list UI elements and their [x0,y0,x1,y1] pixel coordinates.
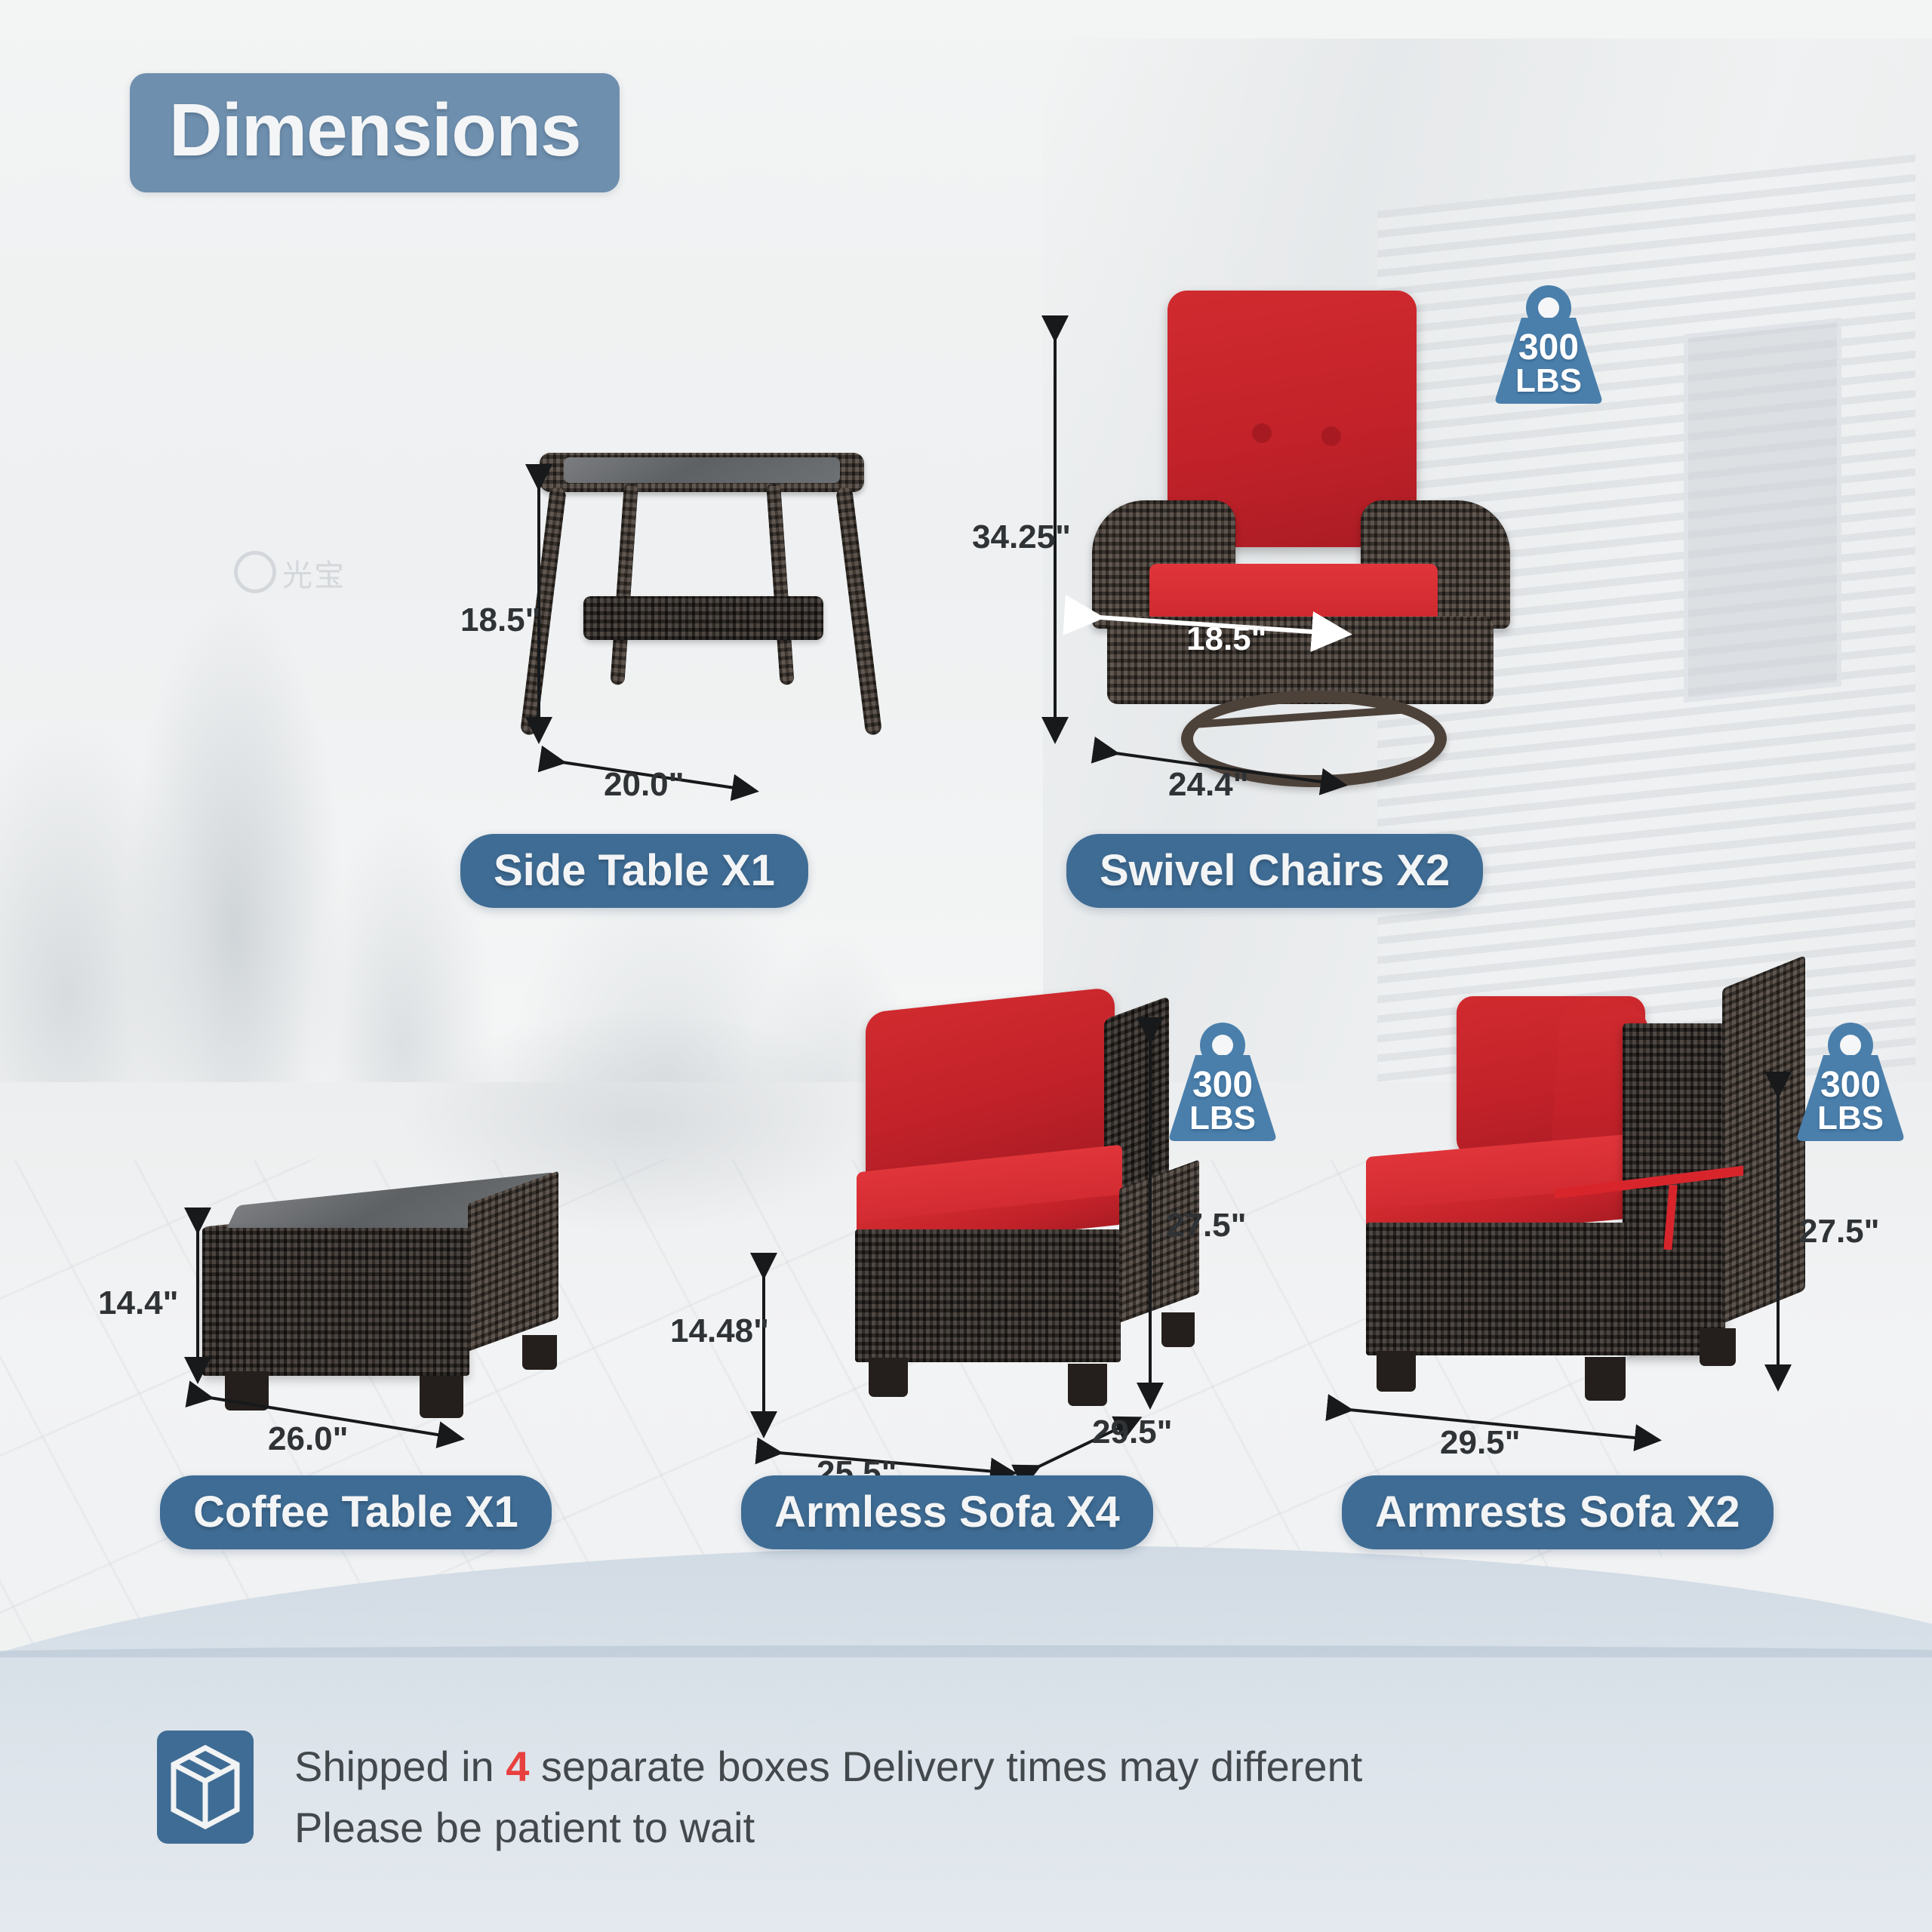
label-armrests-sofa-text: Armrests Sofa X2 [1375,1487,1740,1537]
shipping-note-line1-before: Shipped in [294,1743,506,1790]
armrests-sofa-width-label: 29.5" [1440,1426,1521,1460]
coffee-table-side-panel [468,1171,558,1352]
armrests-sofa-illustration [1366,996,1819,1434]
coffee-table-foot-front-right [420,1376,463,1418]
weight-value: 300 [1790,1067,1911,1103]
label-swivel-chairs[interactable]: Swivel Chairs X2 [1066,834,1483,908]
coffee-table-width-label: 26.0" [268,1423,349,1456]
label-coffee-table[interactable]: Coffee Table X1 [160,1475,552,1549]
armless-sofa-foot-back-right [1161,1312,1195,1347]
watermark-text: 光宝 [282,559,346,592]
coffee-table-front-panel [202,1228,469,1376]
armrests-sofa-foot-front-left [1377,1351,1416,1392]
label-armless-sofa[interactable]: Armless Sofa X4 [741,1475,1153,1549]
side-table-leg-back-left [610,482,638,685]
bottom-band-edge [0,1645,1932,1657]
side-table-lower-shelf [583,596,823,640]
side-table-width-label: 20.0" [604,768,685,801]
armless-sofa-back-height-label: 27.5" [1166,1209,1247,1242]
armless-sofa-seat-height-label: 14.48" [670,1315,769,1348]
armrests-sofa-base-front [1366,1223,1629,1355]
shipping-note-line2: Please be patient to wait [294,1797,1362,1858]
swivel-chair-height-label: 34.25" [972,521,1071,554]
armrests-sofa-height-label: 27.5" [1799,1215,1880,1248]
coffee-table-foot-front-left [225,1371,269,1411]
label-side-table-text: Side Table X1 [494,846,775,895]
armrests-sofa-weight-badge: 300 LBS [1790,1020,1911,1145]
background-photo: 光宝 [0,0,1932,1932]
box-glyph [171,1745,240,1829]
coffee-table-illustration [202,1174,598,1423]
armless-sofa-foot-front-right [1068,1364,1107,1406]
armless-sofa-weight-badge: 300 LBS [1162,1020,1283,1145]
coffee-table-height-label: 14.4" [98,1287,179,1320]
armless-sofa-foot-front-left [869,1358,908,1397]
label-armrests-sofa[interactable]: Armrests Sofa X2 [1342,1475,1774,1549]
shipping-box-count: 4 [506,1743,529,1790]
weight-value: 300 [1162,1067,1283,1103]
label-coffee-table-text: Coffee Table X1 [193,1487,518,1537]
page-title: Dimensions [169,93,580,167]
swivel-chair-illustration [1060,291,1543,774]
weight-unit: LBS [1790,1102,1911,1135]
watermark: 光宝 [234,551,346,595]
weight-unit: LBS [1488,365,1609,398]
side-table-height-label: 18.5" [460,604,541,637]
shipping-note-line1: Shipped in 4 separate boxes Delivery tim… [294,1736,1362,1797]
label-side-table[interactable]: Side Table X1 [460,834,808,908]
coffee-table-foot-back-right [522,1335,557,1370]
label-swivel-chairs-text: Swivel Chairs X2 [1100,846,1450,895]
armless-sofa-base-front [855,1229,1121,1362]
armrests-sofa-foot-right [1700,1328,1736,1366]
swivel-chair-tuft-button-right [1321,426,1341,446]
side-table-glass-top [564,457,840,483]
swivel-chair-seat-width-label: 18.5" [1186,623,1267,656]
swivel-chair-tuft-button-left [1252,423,1272,443]
armless-sofa-depth-label: 29.5" [1092,1416,1173,1449]
side-table-illustration [540,445,864,762]
armrests-sofa-foot-mid [1585,1357,1626,1401]
shipping-note-line1-after: separate boxes Delivery times may differ… [529,1743,1362,1790]
swivel-chair-depth-label: 24.4" [1168,768,1249,801]
weight-unit: LBS [1162,1102,1283,1135]
swivel-chair-weight-badge: 300 LBS [1488,283,1609,408]
label-armless-sofa-text: Armless Sofa X4 [774,1487,1120,1537]
page-title-badge: Dimensions [130,73,620,192]
package-box-icon [157,1730,254,1844]
weight-value: 300 [1488,330,1609,366]
side-table-leg-back-right [766,482,795,685]
shipping-note: Shipped in 4 separate boxes Delivery tim… [294,1736,1362,1858]
